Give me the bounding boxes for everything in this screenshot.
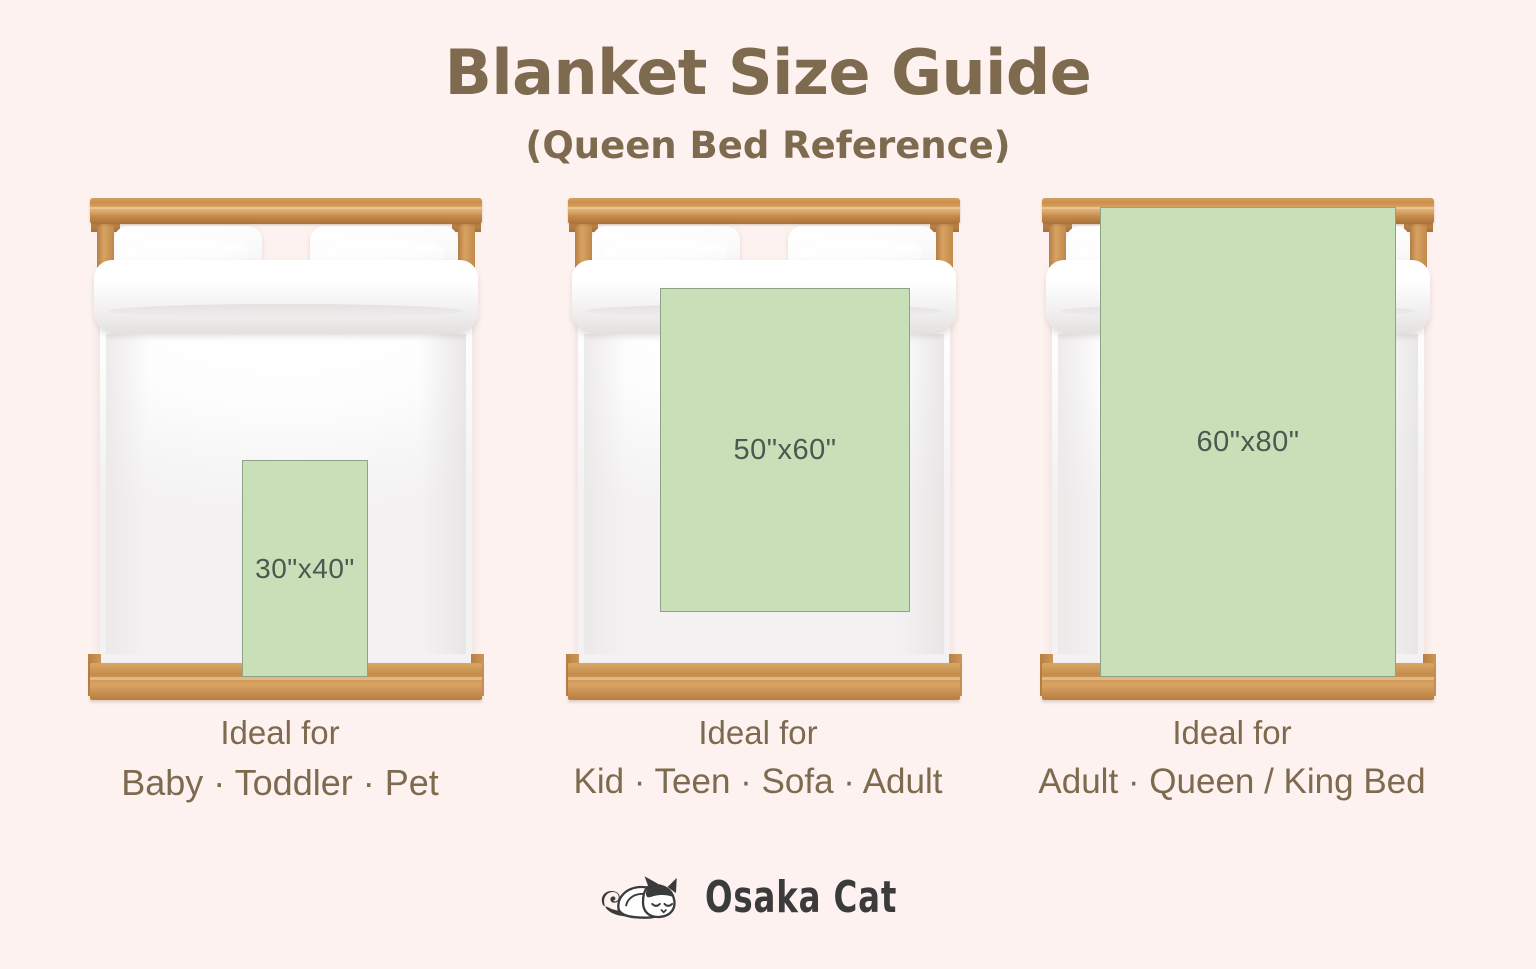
- page-title: Blanket Size Guide: [0, 36, 1536, 109]
- caption-line1-adult: Ideal for: [1012, 714, 1452, 752]
- headboard-rail: [90, 198, 482, 224]
- panel-baby: 30"x40" Ideal for Baby · Toddler · Pet: [60, 190, 500, 850]
- caption-line2-kid: Kid · Teen · Sofa · Adult: [518, 762, 998, 802]
- caption-line2-adult: Adult · Queen / King Bed: [982, 762, 1482, 802]
- caption-line2-baby: Baby · Toddler · Pet: [60, 762, 500, 804]
- brand-logo: Osaka Cat: [0, 862, 1536, 932]
- footboard-rail: [568, 663, 960, 700]
- page-subtitle: (Queen Bed Reference): [0, 124, 1536, 167]
- bed-illustration-2: 50"x60": [568, 190, 960, 700]
- logo-wordmark: Osaka Cat: [705, 872, 897, 923]
- blanket-swatch-adult: 60"x80": [1100, 207, 1396, 677]
- caption-line1-baby: Ideal for: [60, 714, 500, 752]
- blanket-swatch-kid: 50"x60": [660, 288, 910, 612]
- panel-kid: 50"x60" Ideal for Kid · Teen · Sofa · Ad…: [538, 190, 978, 850]
- infographic-page: Blanket Size Guide (Queen Bed Reference)…: [0, 0, 1536, 969]
- bed-illustration-1: 30"x40": [90, 190, 482, 700]
- bed-illustration-3: 60"x80": [1042, 190, 1434, 700]
- sleeping-cat-icon: [597, 871, 689, 923]
- headboard-rail: [568, 198, 960, 224]
- panel-adult: 60"x80" Ideal for Adult · Queen / King B…: [1012, 190, 1452, 850]
- panels-row: 30"x40" Ideal for Baby · Toddler · Pet 5…: [0, 190, 1536, 850]
- caption-line1-kid: Ideal for: [538, 714, 978, 752]
- duvet-fold: [94, 260, 478, 334]
- blanket-swatch-baby: 30"x40": [242, 460, 368, 677]
